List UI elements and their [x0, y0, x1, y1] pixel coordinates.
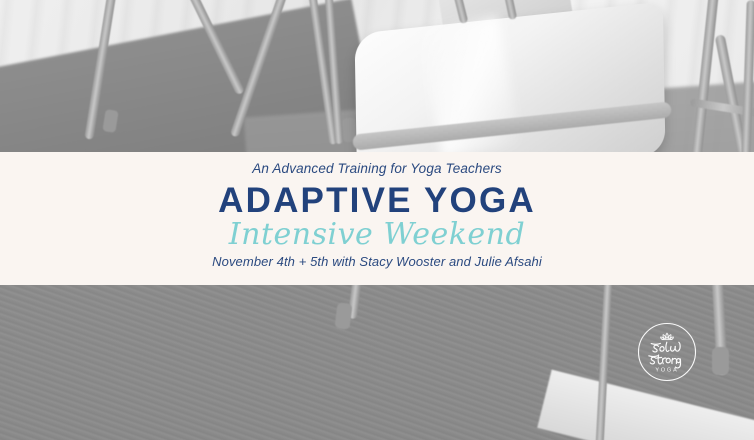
logo-word-soul	[651, 342, 680, 352]
logo-caption: YOGA	[655, 367, 678, 373]
script-subtitle: Intensive Weekend	[0, 218, 754, 252]
brand-logo: YOGA	[637, 322, 697, 382]
top-photo	[0, 0, 754, 152]
eyebrow-text: An Advanced Training for Yoga Teachers	[0, 152, 754, 176]
chair-foot-cap	[712, 347, 729, 375]
page-title: ADAPTIVE YOGA	[0, 176, 754, 220]
logo-word-strong	[649, 355, 681, 368]
dateline-text: November 4th + 5th with Stacy Wooster an…	[0, 254, 754, 269]
lotus-icon	[661, 333, 674, 339]
poster-canvas: An Advanced Training for Yoga Teachers A…	[0, 0, 754, 440]
chair-foot-cap	[334, 302, 352, 330]
text-band: An Advanced Training for Yoga Teachers A…	[0, 152, 754, 285]
